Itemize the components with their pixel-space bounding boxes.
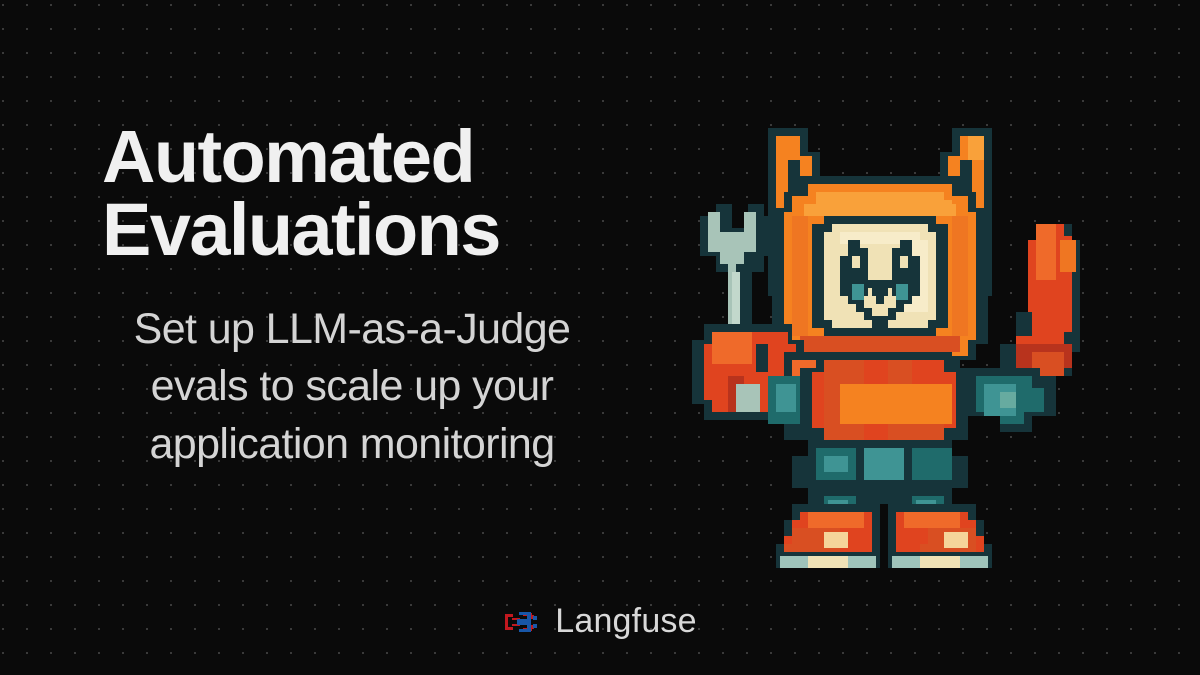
mascot-helmet <box>772 176 988 376</box>
brand-footer: Langfuse <box>0 602 1200 641</box>
page-title-line-1: Automated <box>102 120 642 193</box>
brand-name: Langfuse <box>555 602 697 641</box>
page-subtitle-line-2: evals to scale up your <box>62 358 642 416</box>
langfuse-logo-icon <box>503 607 541 637</box>
page-subtitle-line-3: application monitoring <box>62 416 642 474</box>
poster-canvas: Automated Evaluations Set up LLM-as-a-Ju… <box>0 0 1200 675</box>
page-title: Automated Evaluations <box>62 120 642 267</box>
pixel-fox-robot-mascot-icon <box>680 112 1080 572</box>
page-subtitle: Set up LLM-as-a-Judge evals to scale up … <box>62 301 642 474</box>
text-column: Automated Evaluations Set up LLM-as-a-Ju… <box>62 120 642 473</box>
page-title-line-2: Evaluations <box>102 193 642 266</box>
page-subtitle-line-1: Set up LLM-as-a-Judge <box>62 301 642 359</box>
